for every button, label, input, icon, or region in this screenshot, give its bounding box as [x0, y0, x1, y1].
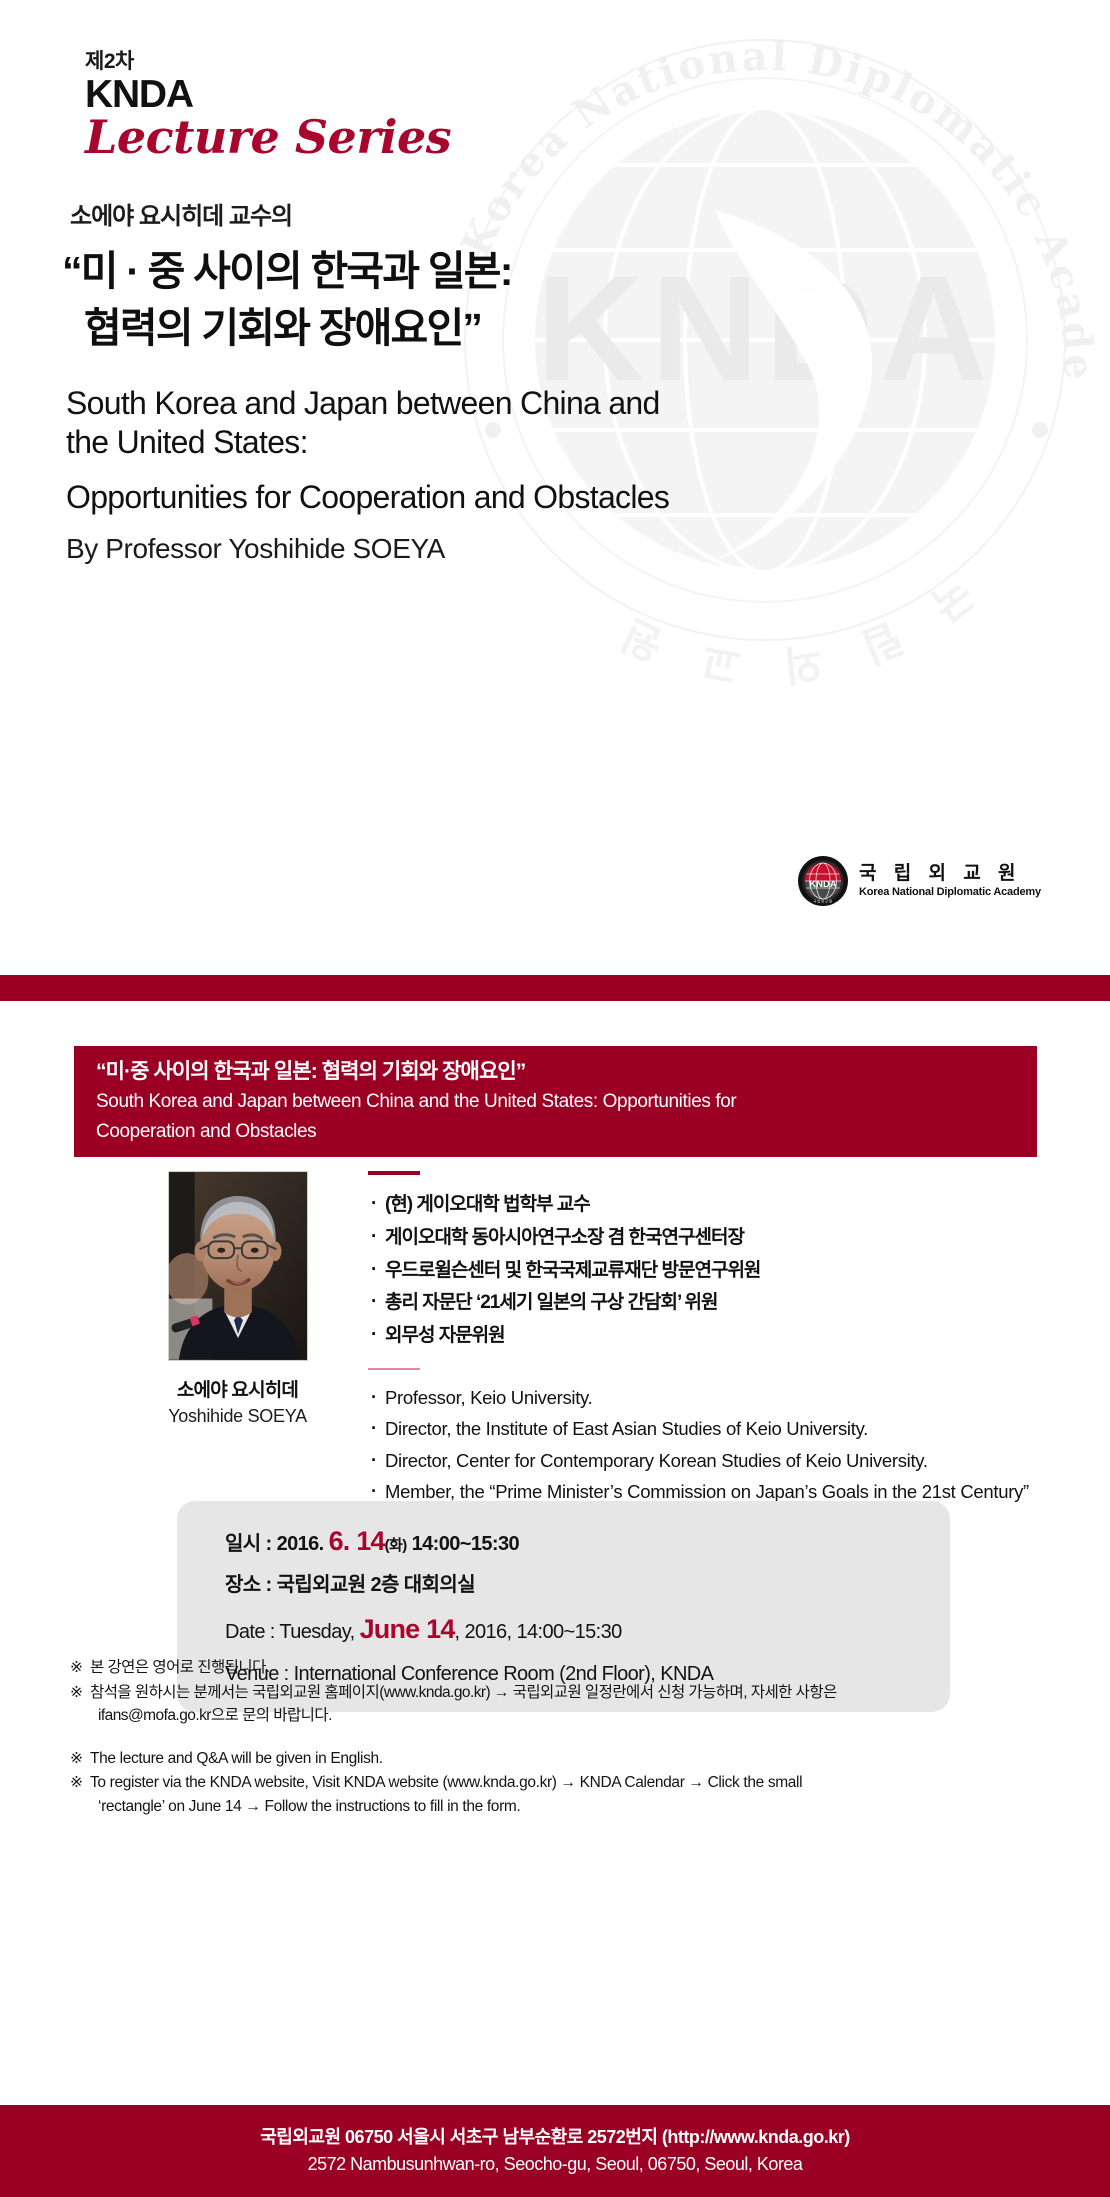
hero-section: KNDA Korea National Diplomatic Academy 국…: [0, 0, 1110, 975]
lecture-title-banner: “미·중 사이의 한국과 일본: 협력의 기회와 장애요인” South Kor…: [74, 1046, 1037, 1157]
event-date-korean-highlight: 6. 14: [329, 1526, 385, 1556]
knda-logo-wordmark-kr: 국 립 외 교 원: [859, 863, 1041, 885]
event-date-english: Date : Tuesday, June 14, 2016, 14:00~15:…: [177, 1613, 950, 1645]
hero-byline: By Professor Yoshihide SOEYA: [66, 533, 1022, 565]
list-item: Director, Center for Contemporary Korean…: [368, 1449, 1058, 1473]
event-date-korean-time: 14:00~15:30: [412, 1533, 519, 1555]
list-item: Professor, Keio University.: [368, 1386, 1058, 1410]
speaker-photo: [168, 1171, 308, 1361]
list-item: 우드로윌슨센터 및 한국국제교류재단 방문연구위원: [368, 1259, 1058, 1283]
hero-title-english: South Korea and Japan between China and …: [66, 384, 1022, 517]
note-korean-2: ※참석을 원하시는 분께서는 국립외교원 홈페이지(www.knda.go.kr…: [70, 1681, 1060, 1728]
hero-title-korean-line1: “미 · 중 사이의 한국과 일본:: [62, 243, 1022, 300]
hero-title-english-line1: South Korea and Japan between China and: [66, 384, 1022, 423]
event-date-english-prefix: Date : Tuesday,: [225, 1621, 355, 1643]
knda-logo-wordmark-en: Korea National Diplomatic Academy: [859, 886, 1041, 899]
note-english-1: ※The lecture and Q&A will be given in En…: [70, 1747, 1060, 1771]
note-marker-icon: ※: [70, 1681, 82, 1705]
masthead: 제2차 KNDA Lecture Series: [85, 50, 451, 164]
note-marker-icon: ※: [70, 1771, 83, 1795]
notes-korean: ※본 강연은 영어로 진행됩니다. ※참석을 원하시는 분께서는 국립외교원 홈…: [70, 1656, 1060, 1728]
hero-title-block: 소에야 요시히데 교수의 “미 · 중 사이의 한국과 일본: 협력의 기회와 …: [62, 196, 1022, 565]
bio-list-korean: (현) 게이오대학 법학부 교수 게이오대학 동아시아연구소장 겸 한국연구센터…: [368, 1193, 1058, 1348]
bio-list-english: Professor, Keio University. Director, th…: [368, 1386, 1058, 1505]
banner-title-english-line1: South Korea and Japan between China and …: [96, 1089, 1017, 1115]
hero-title-korean-line2: 협력의 기회와 장애요인”: [62, 300, 1022, 357]
address-footer: 국립외교원 06750 서울시 서초구 남부순환로 2572번지 (http:/…: [0, 2105, 1110, 2197]
note-korean-1: ※본 강연은 영어로 진행됩니다.: [70, 1656, 1060, 1680]
notes-section: ※본 강연은 영어로 진행됩니다. ※참석을 원하시는 분께서는 국립외교원 홈…: [70, 1656, 1060, 1837]
note-english-2-text: To register via the KNDA website, Visit …: [90, 1774, 802, 1791]
knda-logo-lockup: KNDA 국립외교원 국 립 외 교 원 Korea National Dipl…: [797, 855, 1041, 907]
event-date-korean-day: (화): [385, 1537, 407, 1554]
bio-rule-middle: [368, 1368, 420, 1370]
speaker-name-korean: 소에야 요시히데: [150, 1375, 325, 1402]
event-date-korean: 일시 : 2016. 6. 14(화) 14:00~15:30: [177, 1525, 950, 1557]
note-english-2-continuation: ‘rectangle’ on June 14 → Follow the inst…: [90, 1795, 1060, 1819]
hero-title-english-line2: the United States:: [66, 423, 1022, 462]
footer-address-english: 2572 Nambusunhwan-ro, Seocho-gu, Seoul, …: [308, 2151, 803, 2178]
note-korean-2-continuation: ifans@mofa.go.kr으로 문의 바랍니다.: [90, 1704, 1060, 1728]
speaker-portrait-column: 소에야 요시히데 Yoshihide SOEYA: [150, 1171, 325, 1427]
banner-title-korean: “미·중 사이의 한국과 일본: 협력의 기회와 장애요인”: [96, 1058, 1017, 1086]
event-date-english-highlight: June 14: [360, 1614, 455, 1644]
event-venue-korean: 장소 : 국립외교원 2층 대회의실: [177, 1573, 950, 1597]
knda-logo-wordmark: 국 립 외 교 원 Korea National Diplomatic Acad…: [859, 863, 1041, 898]
hero-title-english-line3: Opportunities for Cooperation and Obstac…: [66, 478, 1022, 517]
details-section: “미·중 사이의 한국과 일본: 협력의 기회와 장애요인” South Kor…: [0, 1001, 1110, 2105]
note-korean-2-text: 참석을 원하시는 분께서는 국립외교원 홈페이지(www.knda.go.kr)…: [90, 1684, 837, 1701]
banner-title-english-line2: Cooperation and Obstacles: [96, 1119, 1017, 1145]
list-item: 게이오대학 동아시아연구소장 겸 한국연구센터장: [368, 1226, 1058, 1250]
hero-speaker-prefix: 소에야 요시히데 교수의: [70, 196, 1022, 231]
note-korean-1-text: 본 강연은 영어로 진행됩니다.: [90, 1659, 270, 1676]
speaker-bio-column: (현) 게이오대학 법학부 교수 게이오대학 동아시아연구소장 겸 한국연구센터…: [368, 1171, 1058, 1528]
list-item: 외무성 자문위원: [368, 1324, 1058, 1348]
masthead-eyebrow: 제2차: [85, 50, 451, 73]
svg-text:국립외교원: 국립외교원: [813, 899, 833, 904]
list-item: (현) 게이오대학 법학부 교수: [368, 1193, 1058, 1217]
note-english-2: ※To register via the KNDA website, Visit…: [70, 1771, 1060, 1818]
hero-title-korean: “미 · 중 사이의 한국과 일본: 협력의 기회와 장애요인”: [62, 243, 1022, 356]
note-marker-icon: ※: [70, 1656, 82, 1680]
list-item: Director, the Institute of East Asian St…: [368, 1417, 1058, 1441]
list-item: 총리 자문단 ‘21세기 일본의 구상 간담회’ 위원: [368, 1291, 1058, 1315]
knda-emblem-icon: KNDA 국립외교원: [797, 855, 849, 907]
footer-address-korean: 국립외교원 06750 서울시 서초구 남부순환로 2572번지 (http:/…: [260, 2124, 850, 2151]
bio-rule-top: [368, 1171, 420, 1175]
event-date-korean-prefix: 일시 : 2016.: [225, 1533, 324, 1555]
red-divider-bar: [0, 975, 1110, 1001]
note-marker-icon: ※: [70, 1747, 83, 1771]
speaker-name-english: Yoshihide SOEYA: [150, 1406, 325, 1427]
masthead-series: Lecture Series: [85, 112, 451, 164]
event-date-english-suffix: , 2016, 14:00~15:30: [455, 1621, 622, 1643]
poster-root: KNDA Korea National Diplomatic Academy 국…: [0, 0, 1110, 2197]
notes-english: ※The lecture and Q&A will be given in En…: [70, 1747, 1060, 1819]
note-english-1-text: The lecture and Q&A will be given in Eng…: [90, 1750, 383, 1767]
svg-text:국 립 외 교 원: 국 립 외 교 원: [602, 569, 982, 691]
svg-text:KNDA: KNDA: [809, 879, 837, 890]
